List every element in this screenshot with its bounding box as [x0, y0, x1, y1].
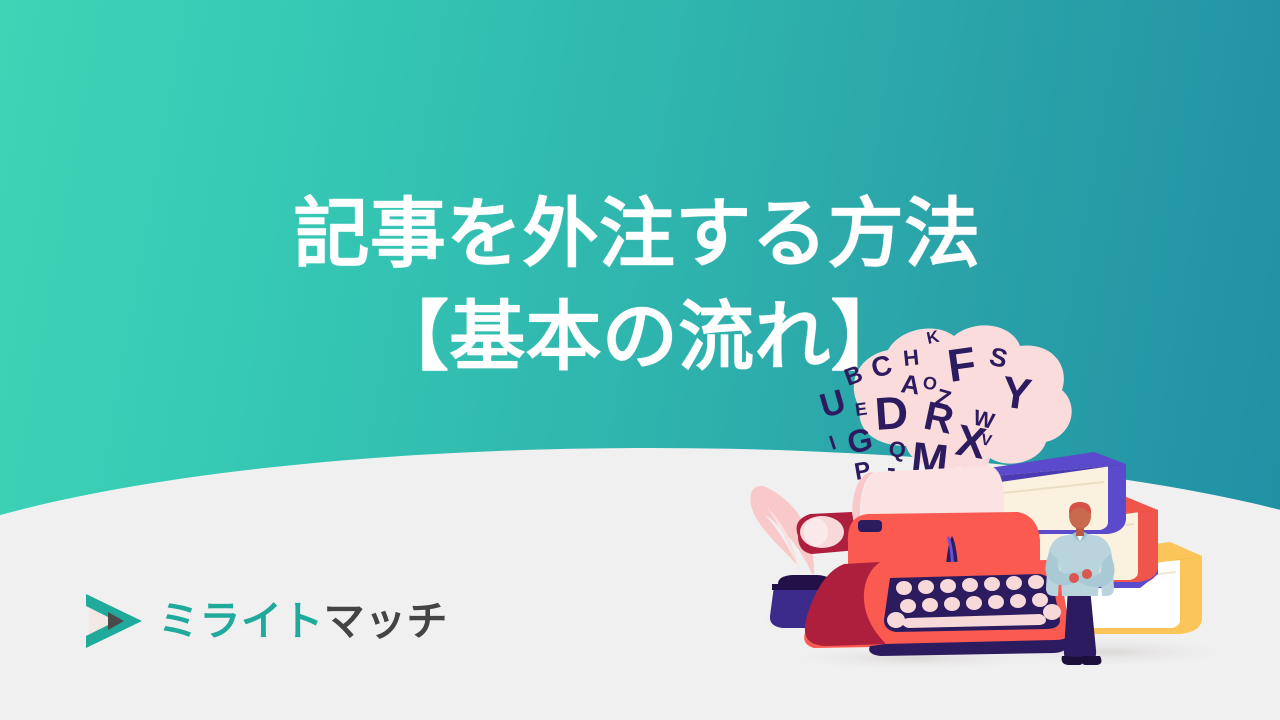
letter-I: I: [827, 432, 839, 455]
letter-D: D: [873, 386, 910, 440]
letter-U: U: [816, 382, 850, 425]
title-line-1: 記事を外注する方法: [0, 186, 1280, 283]
typewriter-roller-knob-inner: [804, 518, 828, 546]
person-shoe-right: [1081, 656, 1102, 665]
play-arrow-chevron-mark: [82, 592, 144, 650]
brand-logo[interactable]: ミライトマッチ: [82, 592, 448, 650]
person-shoe-left: [1062, 656, 1084, 665]
logo-wordmark: ミライトマッチ: [158, 601, 448, 642]
person-hand-left: [1082, 569, 1092, 579]
person-hand-right: [1069, 573, 1079, 583]
typewriter-side-key-left: [887, 612, 905, 628]
letter-Q: Q: [887, 436, 907, 463]
letter-H: H: [902, 344, 920, 371]
hero-banner: 記事を外注する方法 【基本の流れ】 K: [0, 0, 1280, 720]
logo-word-teal: ミライト: [158, 601, 324, 642]
illustration-typewriter-books: K H F S C A O Z Y B U E D R W X G Q M V: [740, 320, 1280, 720]
typewriter-side-key-right: [1043, 604, 1061, 620]
logo-word-dark: マッチ: [324, 601, 448, 642]
typewriter-small-lever: [858, 520, 882, 532]
